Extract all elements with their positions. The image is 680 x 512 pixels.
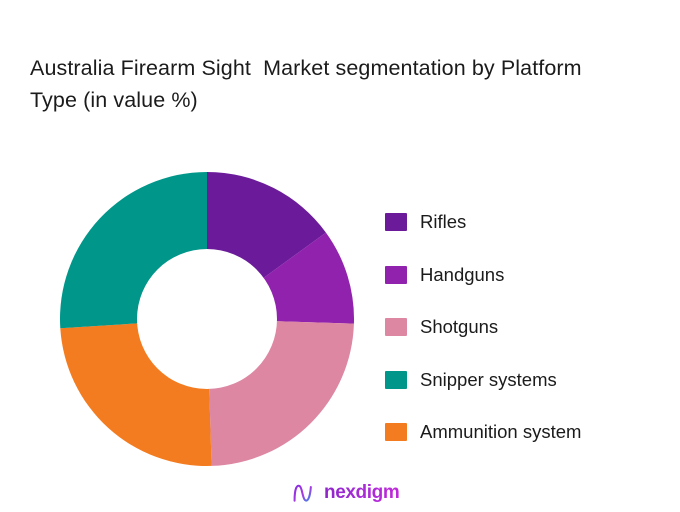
brand-wordmark: nexdigm [324,482,399,504]
page-title: Australia Firearm Sight Market segmentat… [30,52,630,116]
brand-logo: nexdigm [291,480,399,506]
donut-chart [45,157,369,481]
legend-item-ammunition-system[interactable]: Ammunition system [385,406,655,459]
legend-item-shotguns[interactable]: Shotguns [385,301,655,354]
legend-swatch-icon-handguns [385,266,407,284]
donut-hole [137,249,277,389]
legend-item-handguns[interactable]: Handguns [385,249,655,302]
legend-item-rifles[interactable]: Rifles [385,196,655,249]
legend-item-snipper-systems[interactable]: Snipper systems [385,354,655,407]
chart-canvas: Australia Firearm Sight Market segmentat… [0,0,680,512]
nexdigm-n-logo-icon [291,481,317,505]
legend-swatch-icon-snipper-systems [385,371,407,389]
legend-swatch-icon-shotguns [385,318,407,336]
legend-label-ammunition-system: Ammunition system [420,422,581,442]
legend-label-shotguns: Shotguns [420,317,498,337]
chart-legend: Rifles Handguns Shotguns Snipper systems… [385,196,655,459]
donut-chart-svg [45,157,369,481]
legend-label-snipper-systems: Snipper systems [420,370,557,390]
legend-swatch-icon-ammunition-system [385,423,407,441]
legend-label-handguns: Handguns [420,265,504,285]
legend-swatch-icon-rifles [385,213,407,231]
legend-label-rifles: Rifles [420,212,466,232]
